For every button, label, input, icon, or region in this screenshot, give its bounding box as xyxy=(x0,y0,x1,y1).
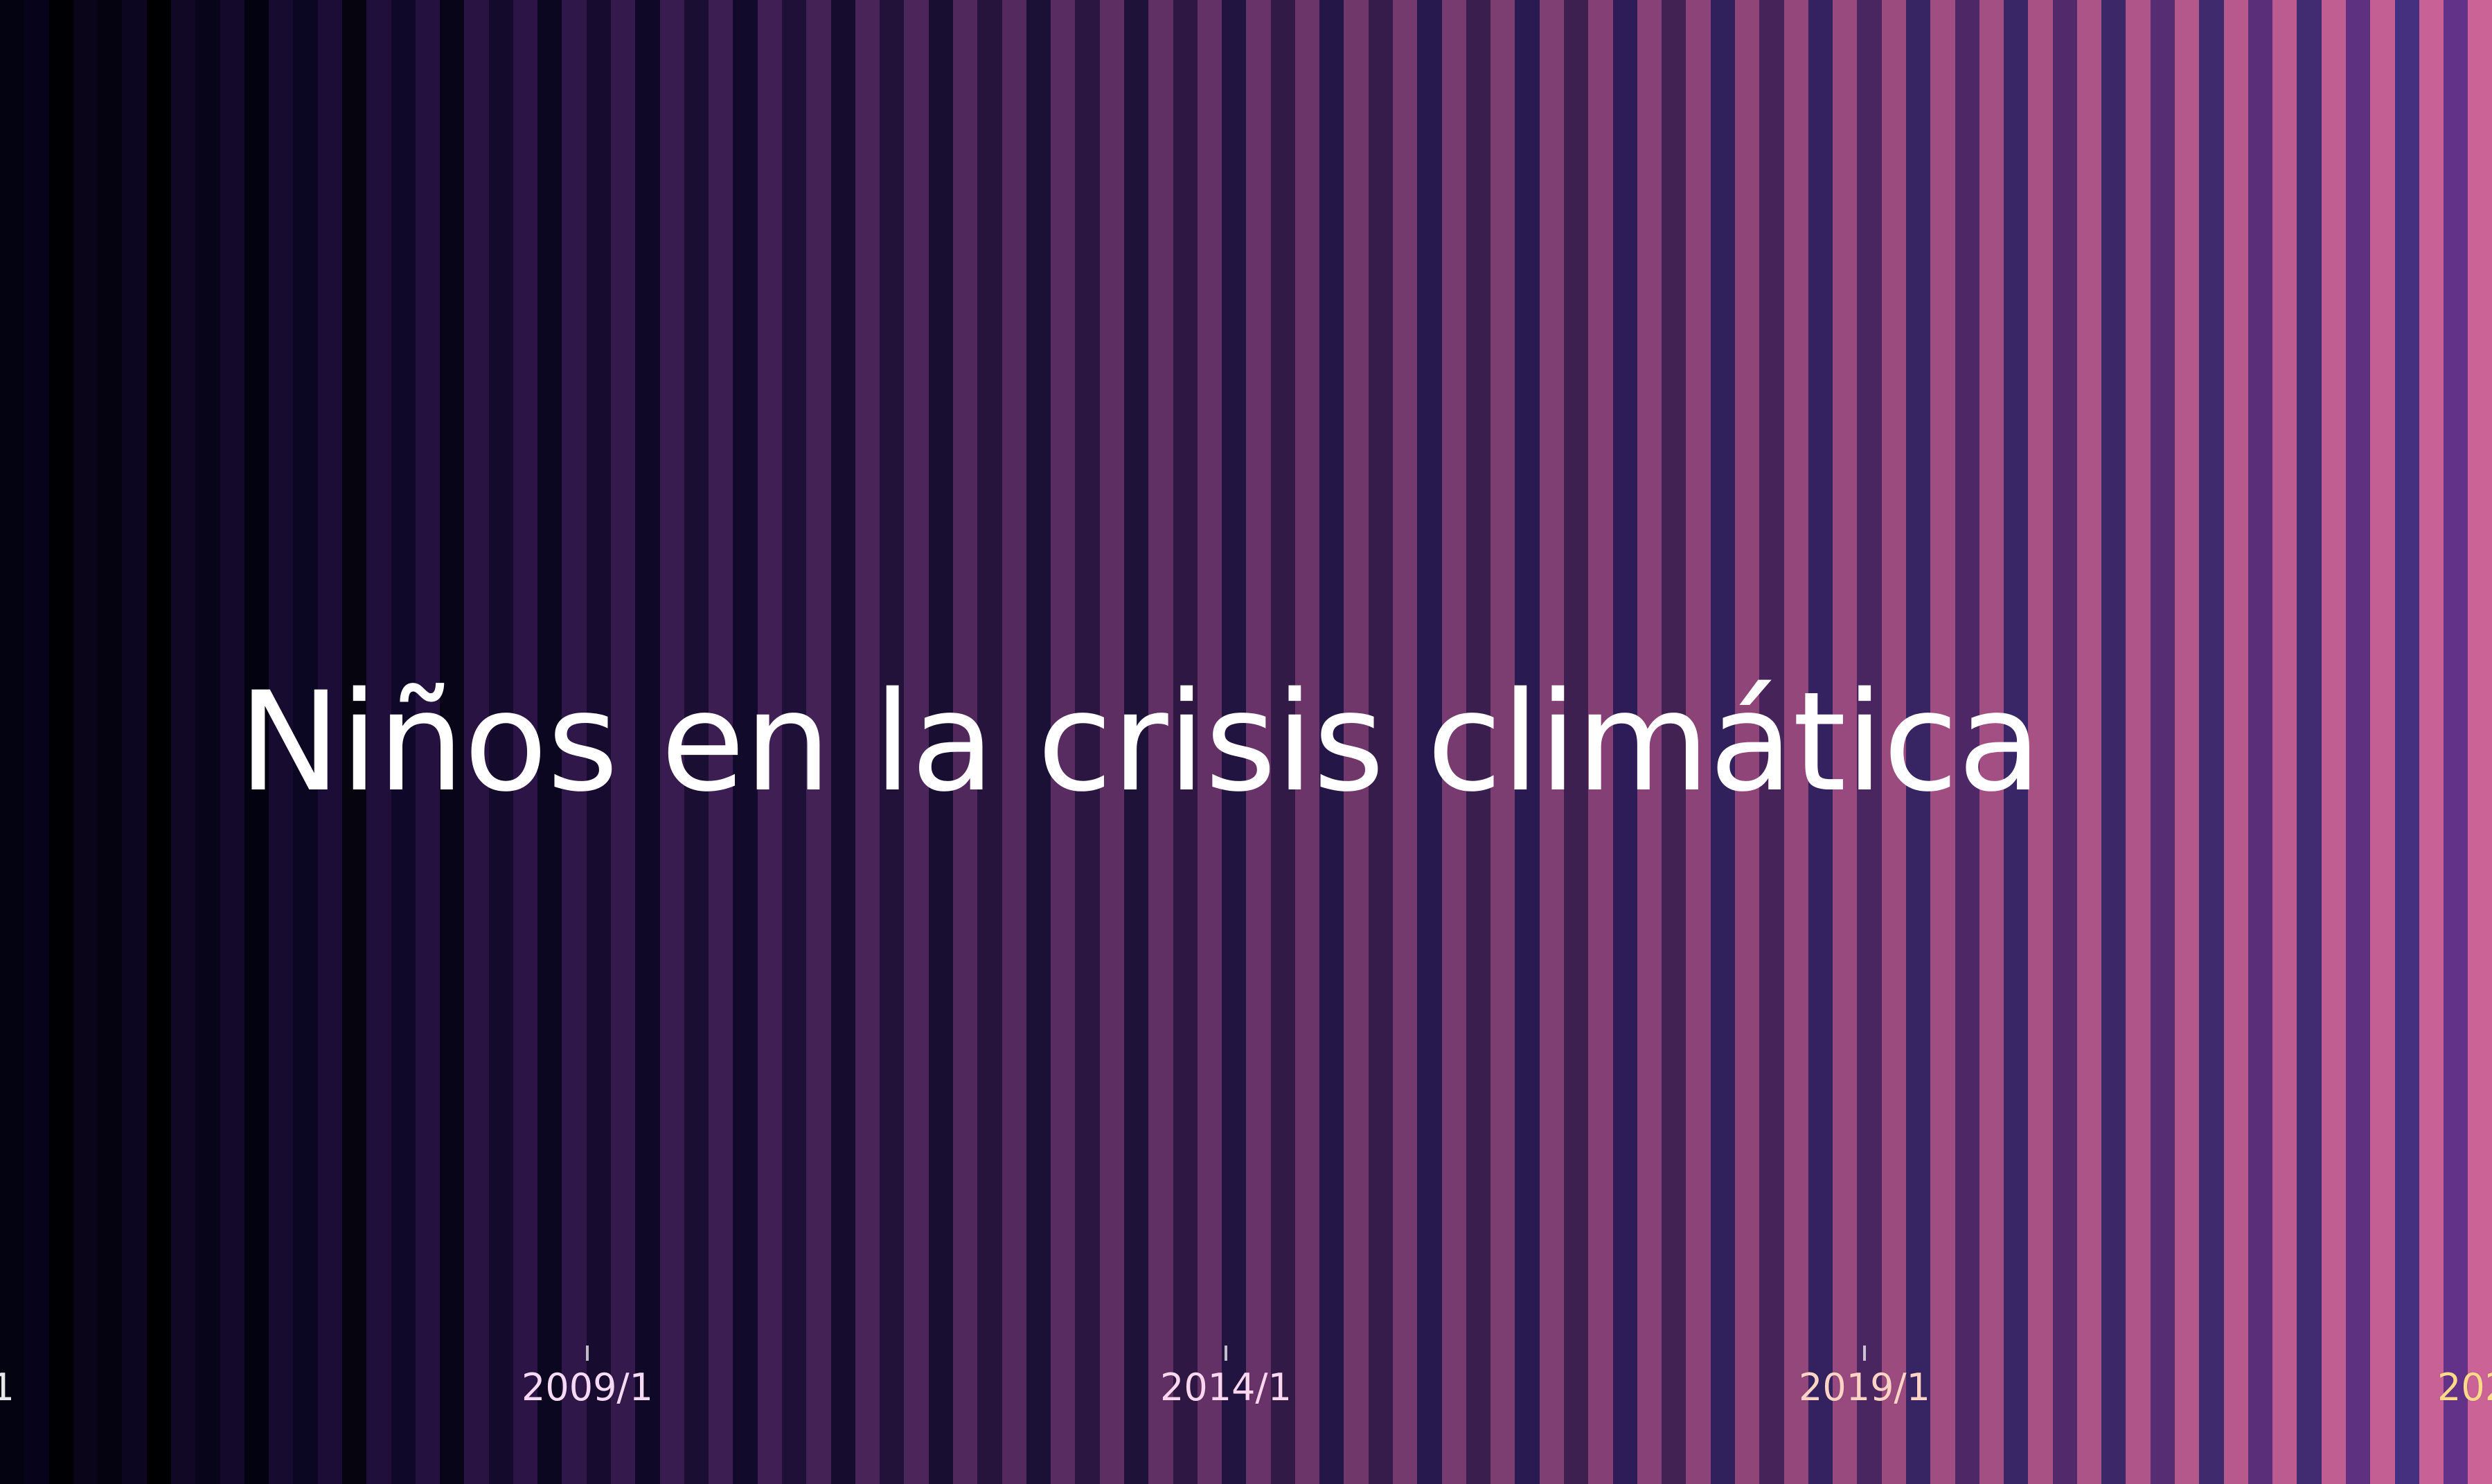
x-axis-tick-label: 2024/1 xyxy=(2437,1366,2492,1409)
stripe-band xyxy=(2444,0,2468,1484)
x-axis-tick: 2019/1 xyxy=(1799,1346,1930,1409)
x-axis-tick-label: 2009/1 xyxy=(522,1366,653,1409)
tick-mark-icon xyxy=(586,1346,589,1361)
x-axis-tick: 2004/1 xyxy=(0,1346,15,1409)
stripe-band xyxy=(2395,0,2419,1484)
stripe-band xyxy=(122,0,146,1484)
stripe-band xyxy=(2322,0,2346,1484)
stripe-band xyxy=(49,0,73,1484)
stripe-band xyxy=(2468,0,2492,1484)
stripe-band xyxy=(2346,0,2370,1484)
x-axis-tick-label: 2019/1 xyxy=(1799,1366,1930,1409)
tick-mark-icon xyxy=(1225,1346,1227,1361)
stripe-band xyxy=(24,0,48,1484)
stripe-band xyxy=(73,0,98,1484)
warming-stripes-figure: Niños en la crisis climática 2004/12009/… xyxy=(0,0,2492,1484)
stripe-band xyxy=(147,0,171,1484)
stripe-band xyxy=(2370,0,2394,1484)
stripe-band xyxy=(0,0,24,1484)
x-axis-tick: 2009/1 xyxy=(522,1346,653,1409)
stripe-band xyxy=(2297,0,2321,1484)
page-title: Niños en la crisis climática xyxy=(238,659,2281,825)
stripe-band xyxy=(98,0,122,1484)
x-axis-tick: 2024/1 xyxy=(2437,1346,2492,1409)
stripe-band xyxy=(2419,0,2444,1484)
x-axis-tick-label: 2004/1 xyxy=(0,1366,15,1409)
x-axis-tick-label: 2014/1 xyxy=(1160,1366,1292,1409)
tick-mark-icon xyxy=(1863,1346,1866,1361)
stripe-band xyxy=(195,0,220,1484)
x-axis-tick: 2014/1 xyxy=(1160,1346,1292,1409)
x-axis: 2004/12009/12014/12019/12024/1 xyxy=(0,1346,2492,1484)
stripe-band xyxy=(171,0,195,1484)
